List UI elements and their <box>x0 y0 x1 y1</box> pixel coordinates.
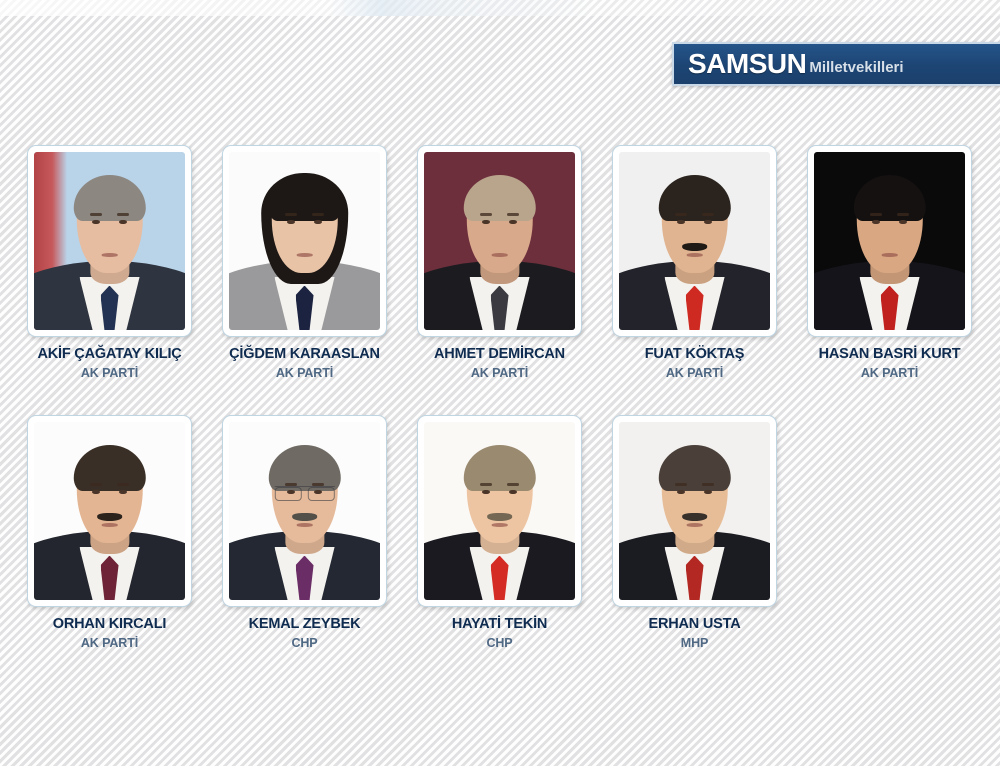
portrait-eyebrow <box>675 483 687 487</box>
deputy-photo <box>619 422 770 600</box>
page-title: SAMSUN <box>688 50 806 78</box>
portrait-eye <box>509 220 517 225</box>
portrait-mustache <box>682 243 708 251</box>
portrait-photo <box>34 422 185 600</box>
deputy-card[interactable]: FUAT KÖKTAŞAK PARTİ <box>597 145 792 380</box>
portrait-eyebrow <box>285 213 297 217</box>
portrait-photo <box>424 422 575 600</box>
portrait-mustache <box>487 513 513 521</box>
deputy-photo <box>229 422 380 600</box>
deputy-photo-frame[interactable] <box>222 145 387 337</box>
deputy-name: HAYATİ TEKİN <box>452 616 547 632</box>
portrait-eye <box>509 490 517 495</box>
deputy-party: AK PARTİ <box>666 366 723 380</box>
portrait-photo <box>229 422 380 600</box>
header-banner: SAMSUN Milletvekilleri <box>672 42 1000 86</box>
deputy-photo-frame[interactable] <box>612 145 777 337</box>
portrait-eyebrow <box>480 213 492 217</box>
portrait-eyebrow <box>702 483 714 487</box>
portrait-mustache <box>97 513 123 521</box>
deputy-name: HASAN BASRİ KURT <box>819 346 961 362</box>
portrait-eyebrow <box>312 213 324 217</box>
deputy-party: AK PARTİ <box>81 366 138 380</box>
deputy-row-2: ORHAN KIRCALIAK PARTİKEMAL ZEYBEKCHPHAYA… <box>12 415 988 650</box>
portrait-eye <box>704 490 712 495</box>
deputy-row-1: AKİF ÇAĞATAY KILIÇAK PARTİÇİĞDEM KARAASL… <box>12 145 988 380</box>
portrait-eyebrow <box>117 483 129 487</box>
portrait-eyebrow <box>897 213 909 217</box>
portrait-eye <box>287 220 295 225</box>
portrait-eyebrow <box>702 213 714 217</box>
portrait-eyebrow <box>675 213 687 217</box>
deputy-party: AK PARTİ <box>81 636 138 650</box>
deputy-photo-frame[interactable] <box>807 145 972 337</box>
portrait-photo <box>424 152 575 330</box>
deputy-name: ÇİĞDEM KARAASLAN <box>229 346 380 362</box>
deputy-party: AK PARTİ <box>471 366 528 380</box>
deputy-photo <box>229 152 380 330</box>
deputy-party: CHP <box>291 636 317 650</box>
deputy-card[interactable]: AKİF ÇAĞATAY KILIÇAK PARTİ <box>12 145 207 380</box>
deputy-photo <box>814 152 965 330</box>
portrait-eyebrow <box>507 483 519 487</box>
deputy-photo-frame[interactable] <box>417 415 582 607</box>
page-subtitle: Milletvekilleri <box>809 60 903 75</box>
deputy-party: CHP <box>486 636 512 650</box>
portrait-eye <box>92 220 100 225</box>
portrait-eye <box>704 220 712 225</box>
deputy-card[interactable]: HASAN BASRİ KURTAK PARTİ <box>792 145 987 380</box>
portrait-eye <box>677 490 685 495</box>
deputy-grid: AKİF ÇAĞATAY KILIÇAK PARTİÇİĞDEM KARAASL… <box>12 145 988 650</box>
portrait-photo <box>229 152 380 330</box>
deputy-party: AK PARTİ <box>276 366 333 380</box>
portrait-eyebrow <box>117 213 129 217</box>
portrait-eyebrow <box>507 213 519 217</box>
deputy-party: MHP <box>681 636 708 650</box>
glasses-icon <box>274 486 334 498</box>
portrait-eye <box>92 490 100 495</box>
portrait-eye <box>119 220 127 225</box>
deputy-name: AKİF ÇAĞATAY KILIÇ <box>37 346 181 362</box>
deputy-name: ORHAN KIRCALI <box>53 616 166 632</box>
portrait-eyebrow <box>90 483 102 487</box>
portrait-mustache <box>292 513 318 521</box>
deputy-photo <box>34 422 185 600</box>
portrait-eye <box>314 220 322 225</box>
deputy-photo-frame[interactable] <box>612 415 777 607</box>
deputy-photo <box>34 152 185 330</box>
portrait-photo <box>619 422 770 600</box>
deputy-photo <box>424 152 575 330</box>
deputy-photo-frame[interactable] <box>417 145 582 337</box>
deputy-photo <box>424 422 575 600</box>
portrait-mustache <box>682 513 708 521</box>
deputy-card[interactable]: AHMET DEMİRCANAK PARTİ <box>402 145 597 380</box>
portrait-eyebrow <box>480 483 492 487</box>
portrait-eyebrow <box>870 213 882 217</box>
deputy-card[interactable]: ÇİĞDEM KARAASLANAK PARTİ <box>207 145 402 380</box>
deputy-name: KEMAL ZEYBEK <box>249 616 361 632</box>
portrait-eye <box>119 490 127 495</box>
deputy-photo-frame[interactable] <box>27 415 192 607</box>
deputy-photo <box>619 152 770 330</box>
portrait-photo <box>34 152 185 330</box>
deputy-party: AK PARTİ <box>861 366 918 380</box>
top-decorative-strip <box>0 0 1000 16</box>
deputy-card[interactable]: ORHAN KIRCALIAK PARTİ <box>12 415 207 650</box>
portrait-eyebrow <box>90 213 102 217</box>
deputy-name: FUAT KÖKTAŞ <box>645 346 745 362</box>
portrait-eye <box>677 220 685 225</box>
deputy-name: AHMET DEMİRCAN <box>434 346 565 362</box>
portrait-eye <box>872 220 880 225</box>
portrait-photo <box>814 152 965 330</box>
portrait-eye <box>899 220 907 225</box>
deputy-card[interactable]: KEMAL ZEYBEKCHP <box>207 415 402 650</box>
portrait-photo <box>619 152 770 330</box>
deputy-photo-frame[interactable] <box>27 145 192 337</box>
deputy-photo-frame[interactable] <box>222 415 387 607</box>
deputy-card[interactable]: ERHAN USTAMHP <box>597 415 792 650</box>
deputy-card[interactable]: HAYATİ TEKİNCHP <box>402 415 597 650</box>
portrait-eye <box>482 490 490 495</box>
portrait-eye <box>482 220 490 225</box>
deputy-name: ERHAN USTA <box>649 616 741 632</box>
